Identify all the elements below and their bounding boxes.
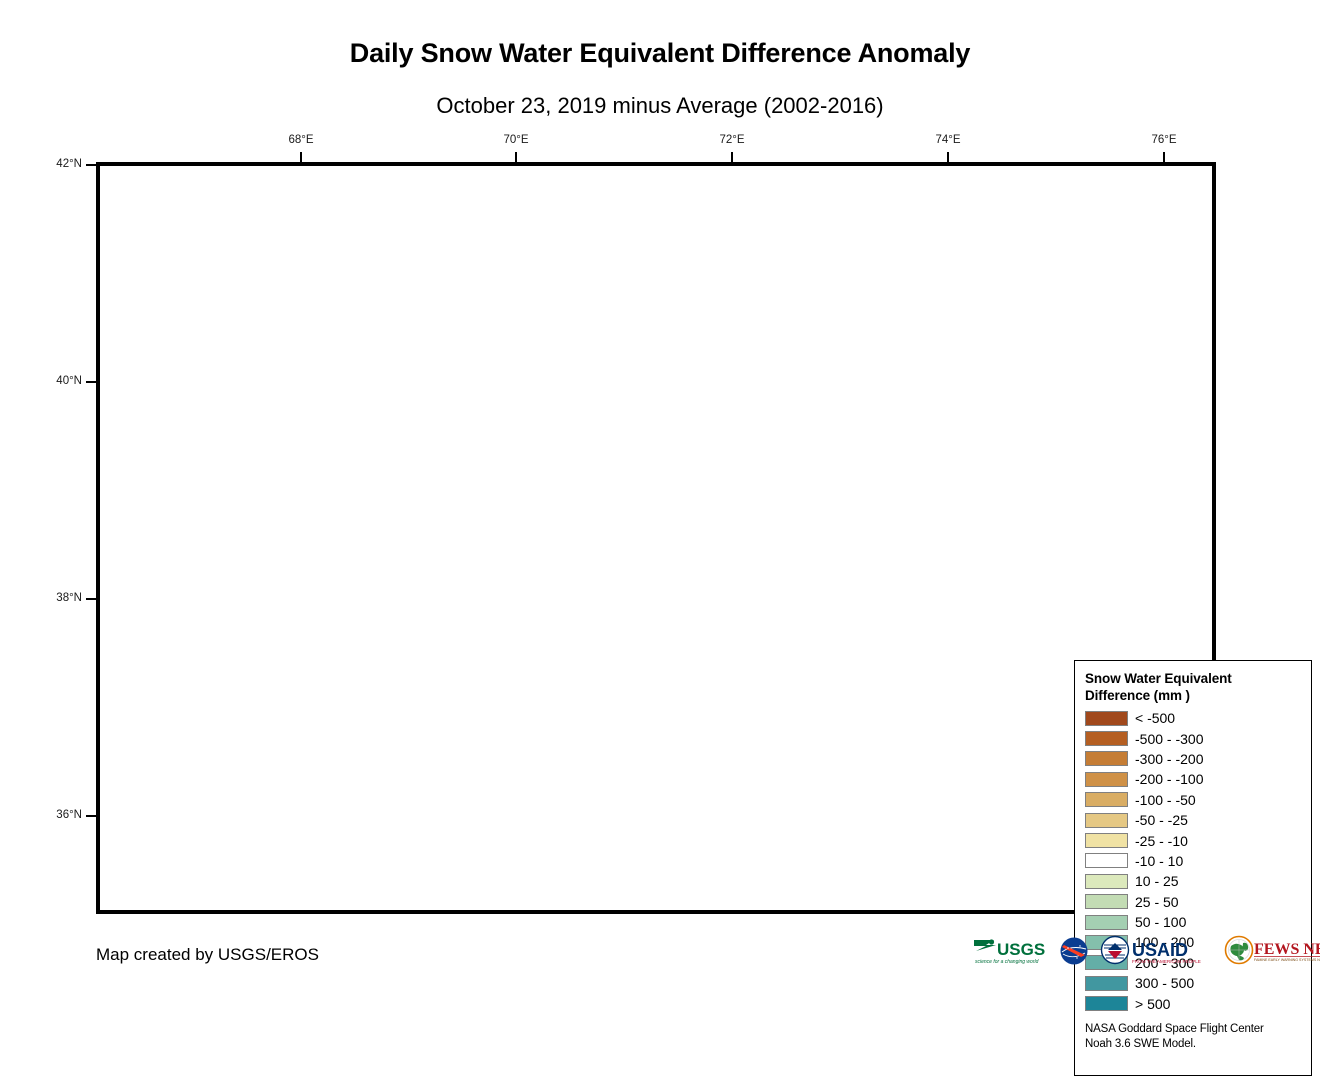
x-tick-mark bbox=[1163, 152, 1165, 162]
legend-swatch bbox=[1085, 874, 1128, 889]
legend-row[interactable]: > 500 bbox=[1085, 993, 1301, 1013]
usgs-logo: USGS science for a changing world bbox=[972, 933, 1050, 969]
legend-label: -200 - -100 bbox=[1135, 772, 1203, 786]
legend-swatch bbox=[1085, 894, 1128, 909]
legend-label: > 500 bbox=[1135, 997, 1170, 1011]
legend-label: -10 - 10 bbox=[1135, 854, 1183, 868]
x-axis-label-74e: 74°E bbox=[918, 134, 978, 146]
legend-row[interactable]: 10 - 25 bbox=[1085, 871, 1301, 891]
x-tick-mark bbox=[731, 152, 733, 162]
legend-label: 300 - 500 bbox=[1135, 976, 1194, 990]
legend-label: -500 - -300 bbox=[1135, 732, 1203, 746]
y-tick-mark bbox=[86, 164, 96, 166]
legend-label: 25 - 50 bbox=[1135, 895, 1179, 909]
legend-row[interactable]: 300 - 500 bbox=[1085, 973, 1301, 993]
y-axis-label-42n: 42°N bbox=[30, 158, 82, 170]
legend-row[interactable]: -10 - 10 bbox=[1085, 851, 1301, 871]
svg-text:USGS: USGS bbox=[997, 940, 1045, 959]
partner-logos: USGS science for a changing world USAID … bbox=[972, 932, 1320, 970]
legend-note-line1: NASA Goddard Space Flight Center bbox=[1085, 1023, 1264, 1035]
legend-swatch bbox=[1085, 751, 1128, 766]
legend-swatch bbox=[1085, 772, 1128, 787]
legend-label: -300 - -200 bbox=[1135, 752, 1203, 766]
map-credit: Map created by USGS/EROS bbox=[96, 945, 319, 965]
y-axis-label-38n: 38°N bbox=[30, 592, 82, 604]
legend-row[interactable]: -200 - -100 bbox=[1085, 769, 1301, 789]
fewsnet-logo: FEWS NET FAMINE EARLY WARNING SYSTEMS NE… bbox=[1223, 933, 1320, 969]
legend-swatch bbox=[1085, 711, 1128, 726]
legend-swatch bbox=[1085, 833, 1128, 848]
map-container[interactable]: 68°E 70°E 72°E 74°E 76°E 42°N 40°N 38°N … bbox=[96, 162, 1216, 914]
legend-heading-line1: Snow Water Equivalent bbox=[1085, 671, 1232, 686]
x-tick-mark bbox=[947, 152, 949, 162]
svg-text:FAMINE EARLY WARNING SYSTEMS N: FAMINE EARLY WARNING SYSTEMS NETWORK bbox=[1254, 958, 1320, 962]
legend-row[interactable]: -300 - -200 bbox=[1085, 749, 1301, 769]
x-axis-label-68e: 68°E bbox=[271, 134, 331, 146]
legend-swatch bbox=[1085, 731, 1128, 746]
legend-heading: Snow Water Equivalent Difference (mm ) bbox=[1085, 670, 1301, 704]
legend-row[interactable]: < -500 bbox=[1085, 708, 1301, 728]
x-axis-label-72e: 72°E bbox=[702, 134, 762, 146]
x-axis-label-76e: 76°E bbox=[1134, 134, 1194, 146]
legend-swatch bbox=[1085, 915, 1128, 930]
legend-label: 10 - 25 bbox=[1135, 874, 1179, 888]
svg-text:FEWS NET: FEWS NET bbox=[1254, 941, 1320, 958]
legend-row[interactable]: 50 - 100 bbox=[1085, 912, 1301, 932]
legend-swatch bbox=[1085, 792, 1128, 807]
legend-row[interactable]: 25 - 50 bbox=[1085, 892, 1301, 912]
svg-text:science for a changing world: science for a changing world bbox=[975, 959, 1039, 965]
svg-text:FROM THE AMERICAN PEOPLE: FROM THE AMERICAN PEOPLE bbox=[1132, 959, 1201, 964]
legend-label: < -500 bbox=[1135, 711, 1175, 725]
map-frame bbox=[96, 162, 1216, 914]
legend-row[interactable]: -500 - -300 bbox=[1085, 728, 1301, 748]
y-tick-mark bbox=[86, 598, 96, 600]
legend-swatch bbox=[1085, 996, 1128, 1011]
legend-label: -100 - -50 bbox=[1135, 793, 1196, 807]
legend-row[interactable]: -50 - -25 bbox=[1085, 810, 1301, 830]
x-axis-label-70e: 70°E bbox=[486, 134, 546, 146]
legend-swatch bbox=[1085, 813, 1128, 828]
legend-source-note: NASA Goddard Space Flight Center Noah 3.… bbox=[1085, 1022, 1301, 1052]
svg-text:USAID: USAID bbox=[1132, 940, 1188, 960]
legend-row[interactable]: -100 - -50 bbox=[1085, 790, 1301, 810]
usaid-logo: USAID FROM THE AMERICAN PEOPLE bbox=[1098, 933, 1216, 969]
y-tick-mark bbox=[86, 815, 96, 817]
legend-label: -50 - -25 bbox=[1135, 813, 1188, 827]
x-tick-mark bbox=[300, 152, 302, 162]
y-axis-label-40n: 40°N bbox=[30, 375, 82, 387]
nasa-logo bbox=[1057, 933, 1091, 969]
page-subtitle: October 23, 2019 minus Average (2002-201… bbox=[0, 93, 1320, 119]
map-legend[interactable]: Snow Water Equivalent Difference (mm ) <… bbox=[1074, 660, 1312, 1076]
legend-note-line2: Noah 3.6 SWE Model. bbox=[1085, 1038, 1196, 1050]
page-title: Daily Snow Water Equivalent Difference A… bbox=[0, 38, 1320, 69]
legend-row[interactable]: -25 - -10 bbox=[1085, 830, 1301, 850]
legend-label: -25 - -10 bbox=[1135, 834, 1188, 848]
legend-label: 50 - 100 bbox=[1135, 915, 1186, 929]
legend-swatch bbox=[1085, 976, 1128, 991]
y-axis-label-36n: 36°N bbox=[30, 809, 82, 821]
y-tick-mark bbox=[86, 381, 96, 383]
x-tick-mark bbox=[515, 152, 517, 162]
legend-heading-line2: Difference (mm ) bbox=[1085, 688, 1190, 703]
legend-swatch bbox=[1085, 853, 1128, 868]
